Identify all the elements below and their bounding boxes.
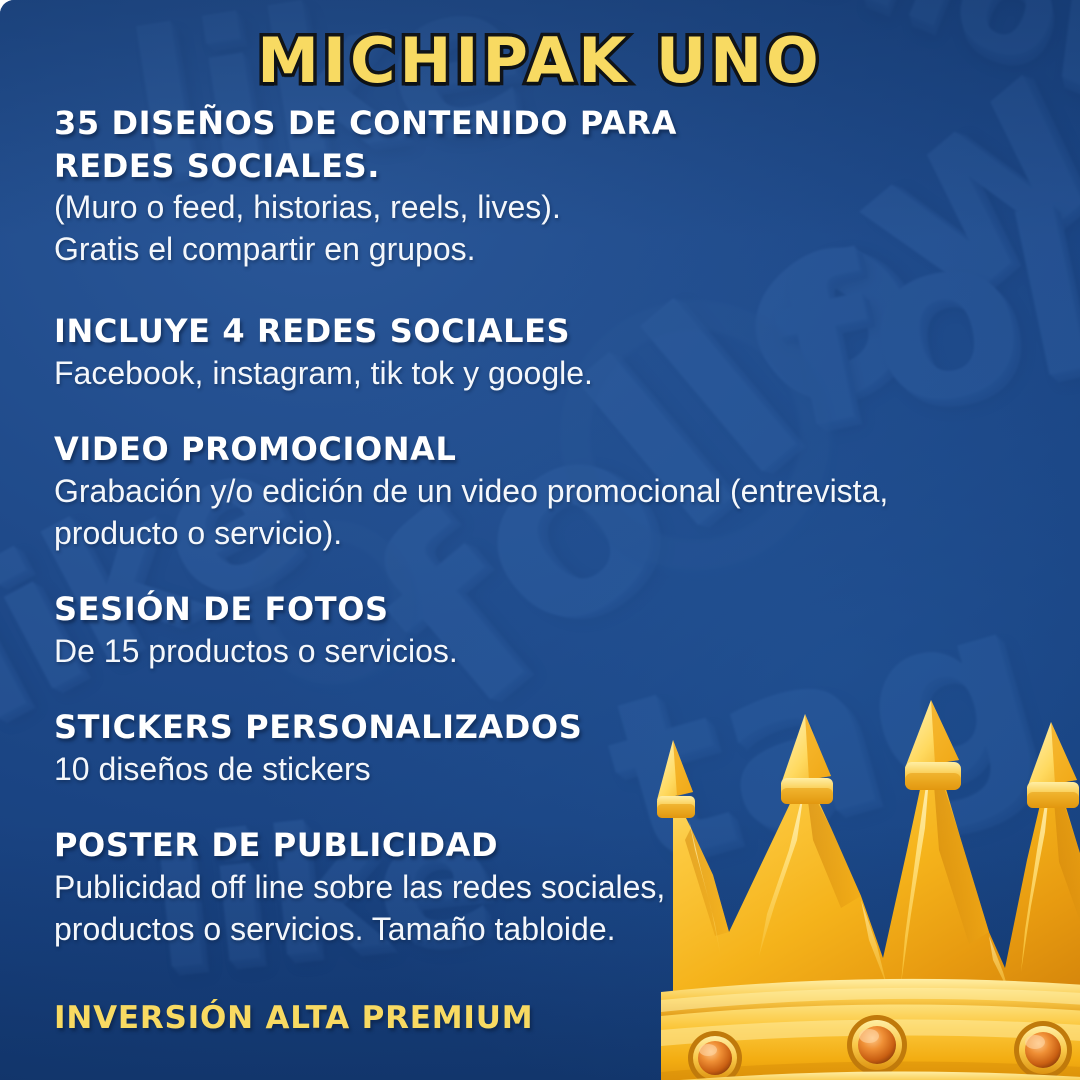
feature-heading-line: POSTER DE PUBLICIDAD	[54, 824, 1014, 867]
feature-section-disenos: 35 DISEÑOS DE CONTENIDO PARA REDES SOCIA…	[54, 102, 1014, 270]
feature-section-sesion-de-fotos: SESIÓN DE FOTOS De 15 productos o servic…	[54, 588, 1014, 672]
poster-title-container: MICHIPAK UNO	[0, 24, 1080, 97]
feature-body-line: (Muro o feed, historias, reels, lives).	[54, 187, 1014, 229]
feature-body-line: Publicidad off line sobre las redes soci…	[54, 867, 1014, 909]
feature-body-line: productos o servicios. Tamaño tabloide.	[54, 909, 1014, 951]
feature-body-line: Facebook, instagram, tik tok y google.	[54, 353, 1014, 395]
feature-body-line: Grabación y/o edición de un video promoc…	[54, 471, 1014, 513]
feature-heading-line: INCLUYE 4 REDES SOCIALES	[54, 310, 1014, 353]
feature-body-line: producto o servicio).	[54, 513, 1014, 555]
feature-body-line: De 15 productos o servicios.	[54, 631, 1014, 673]
feature-section-poster-publicidad: POSTER DE PUBLICIDAD Publicidad off line…	[54, 824, 1014, 950]
page-title: MICHIPAK UNO	[257, 24, 823, 97]
feature-heading-line: 35 DISEÑOS DE CONTENIDO PARA	[54, 102, 1014, 145]
feature-section-video-promocional: VIDEO PROMOCIONAL Grabación y/o edición …	[54, 428, 1014, 554]
feature-section-redes-sociales: INCLUYE 4 REDES SOCIALES Facebook, insta…	[54, 310, 1014, 394]
feature-heading-line: VIDEO PROMOCIONAL	[54, 428, 1014, 471]
feature-section-stickers: STICKERS PERSONALIZADOS 10 diseños de st…	[54, 706, 1014, 790]
feature-body-line: 10 diseños de stickers	[54, 749, 1014, 791]
features-list: 35 DISEÑOS DE CONTENIDO PARA REDES SOCIA…	[54, 102, 1014, 950]
feature-heading-line: STICKERS PERSONALIZADOS	[54, 706, 1014, 749]
promo-poster: like follow follow like tag like follow …	[0, 0, 1080, 1080]
investment-tier-label: INVERSIÓN ALTA PREMIUM	[54, 1000, 533, 1036]
feature-body-line: Gratis el compartir en grupos.	[54, 229, 1014, 271]
feature-heading-line: REDES SOCIALES.	[54, 145, 1014, 188]
feature-heading-line: SESIÓN DE FOTOS	[54, 588, 1014, 631]
